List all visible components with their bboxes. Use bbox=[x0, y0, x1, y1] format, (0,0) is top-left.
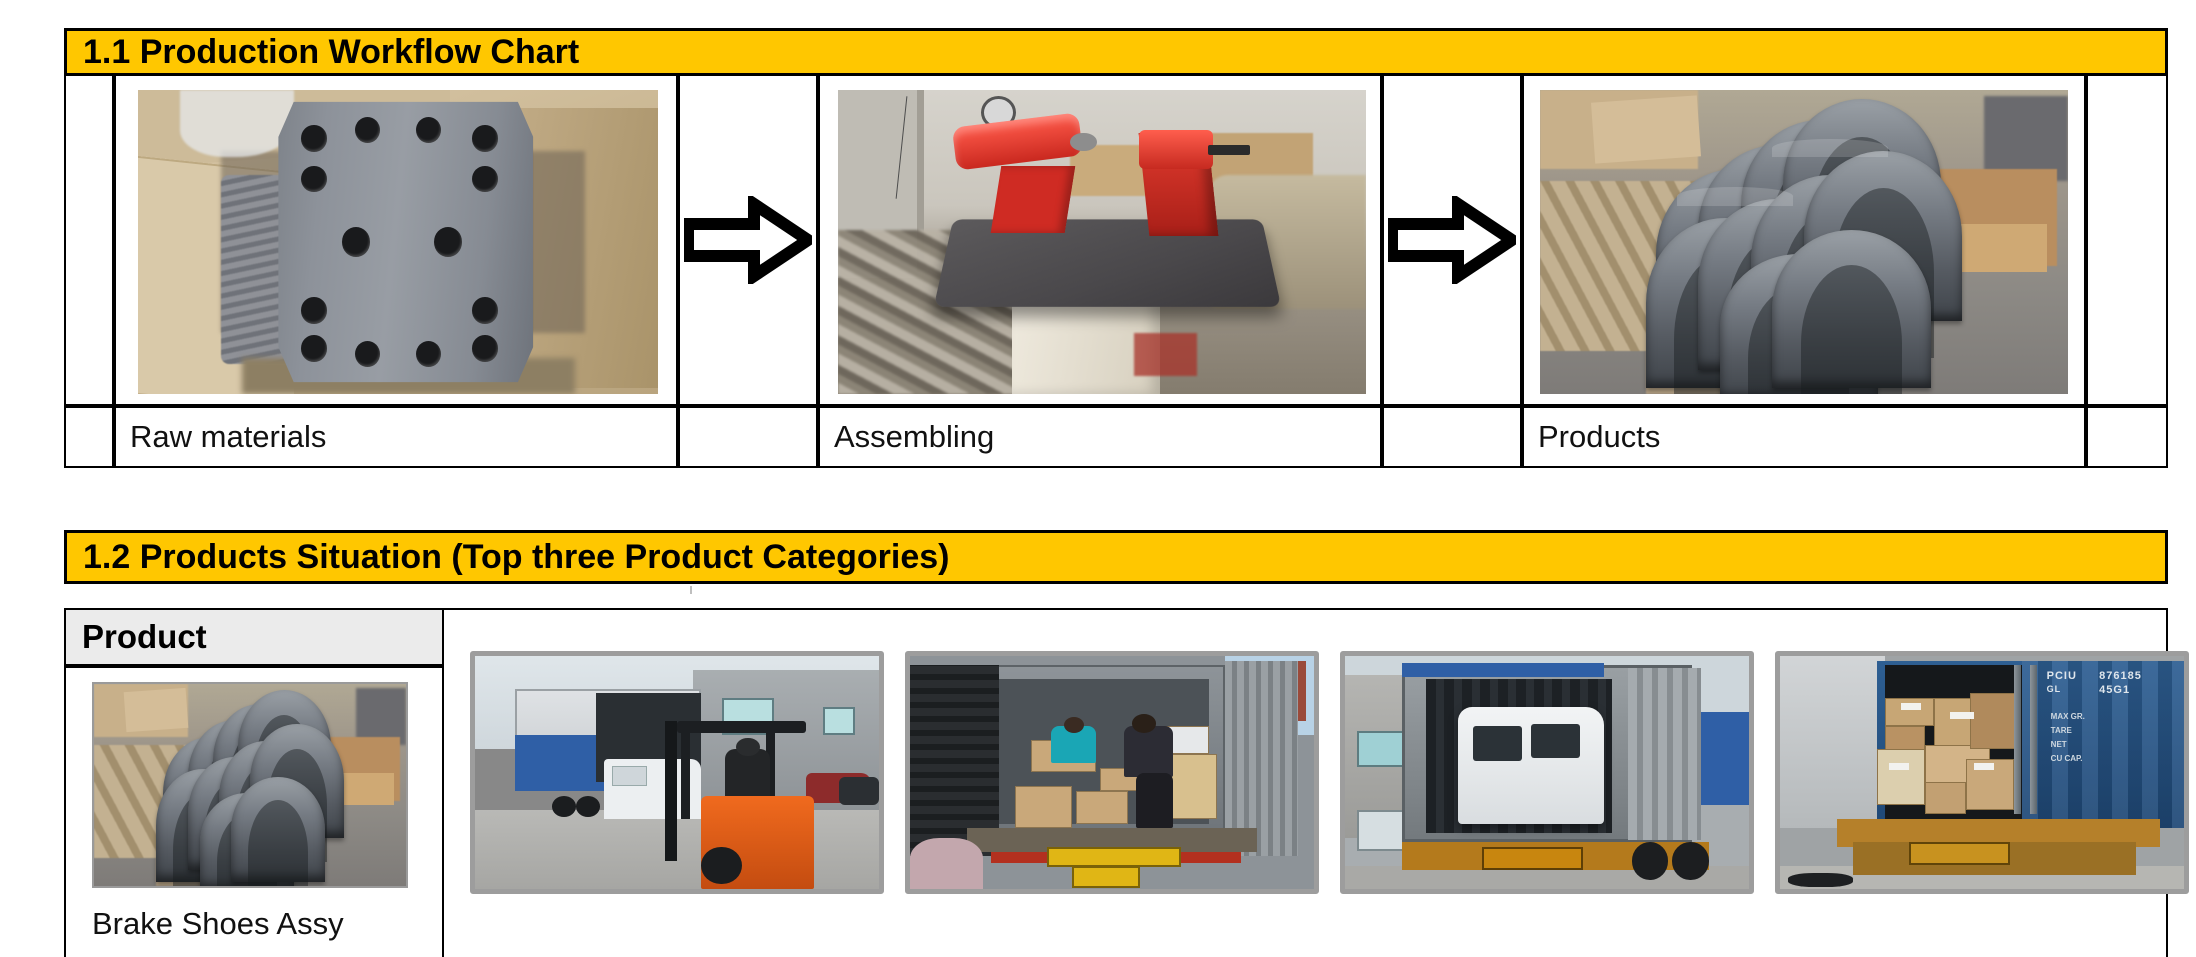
section-heading-products: 1.2 Products Situation (Top three Produc… bbox=[64, 530, 2168, 584]
workflow-left-spacer-cell bbox=[64, 76, 114, 406]
section-heading-workflow: 1.1 Production Workflow Chart bbox=[64, 28, 2168, 76]
container-serial: 876185 bbox=[2099, 670, 2142, 682]
table-guide-tick-1 bbox=[690, 586, 692, 594]
shipping-photo-1 bbox=[470, 651, 884, 894]
shipping-photo-3 bbox=[1340, 651, 1754, 894]
shipping-photo-4: PCIU 876185 GL 45G1 MAX GR. TARE NET CU … bbox=[1775, 651, 2189, 894]
workflow-arrow-2-cell bbox=[1382, 76, 1522, 406]
container-type-code: 45G1 bbox=[2099, 684, 2130, 696]
container-spec-cucap: CU CAP. bbox=[2051, 754, 2083, 763]
product-column-header: Product bbox=[64, 608, 444, 666]
arrow-right-icon bbox=[684, 196, 812, 284]
container-check-line: GL bbox=[2047, 684, 2062, 694]
arrow-right-icon bbox=[1388, 196, 1516, 284]
workflow-step-1-photo bbox=[138, 90, 658, 394]
workflow-arrow-1-cell bbox=[678, 76, 818, 406]
shipping-photo-2 bbox=[905, 651, 1319, 894]
document-page: 1.1 Production Workflow Chart bbox=[0, 0, 2196, 957]
workflow-step-1-caption-text: Raw materials bbox=[116, 419, 326, 455]
workflow-step-1-caption: Raw materials bbox=[114, 406, 678, 468]
product-thumbnail bbox=[92, 682, 408, 888]
workflow-step-1-image-cell bbox=[114, 76, 678, 406]
worker-2-legs bbox=[1136, 773, 1172, 829]
container-owner-code: PCIU bbox=[2047, 670, 2077, 682]
workflow-step-3-image-cell bbox=[1522, 76, 2086, 406]
container-spec-tare: TARE bbox=[2051, 726, 2072, 735]
workflow-arrow-1-caption-cell bbox=[678, 406, 818, 468]
workflow-step-3-caption-text: Products bbox=[1524, 419, 1660, 455]
section-heading-products-text: 1.2 Products Situation (Top three Produc… bbox=[67, 538, 949, 577]
workflow-caption-spacer-left bbox=[64, 406, 114, 468]
workflow-arrow-2-caption-cell bbox=[1382, 406, 1522, 468]
workflow-step-3-caption: Products bbox=[1522, 406, 2086, 468]
workflow-caption-spacer-right bbox=[2086, 406, 2168, 468]
bystander bbox=[910, 838, 983, 889]
container-spec-maxgr: MAX GR. bbox=[2051, 712, 2085, 721]
worker-2 bbox=[1124, 726, 1172, 777]
container-spec-net: NET bbox=[2051, 740, 2067, 749]
workflow-step-2-caption: Assembling bbox=[818, 406, 1382, 468]
product-column-header-text: Product bbox=[66, 618, 207, 656]
product-name-label: Brake Shoes Assy bbox=[92, 906, 344, 942]
workflow-step-2-caption-text: Assembling bbox=[820, 419, 994, 455]
section-heading-workflow-text: 1.1 Production Workflow Chart bbox=[67, 33, 579, 72]
workflow-step-2-image-cell bbox=[818, 76, 1382, 406]
workflow-step-2-photo bbox=[838, 90, 1366, 394]
worker-1-head bbox=[1064, 717, 1084, 733]
product-column-body-cell: Brake Shoes Assy bbox=[64, 666, 444, 957]
workflow-step-3-photo bbox=[1540, 90, 2068, 394]
workflow-right-spacer-cell bbox=[2086, 76, 2168, 406]
